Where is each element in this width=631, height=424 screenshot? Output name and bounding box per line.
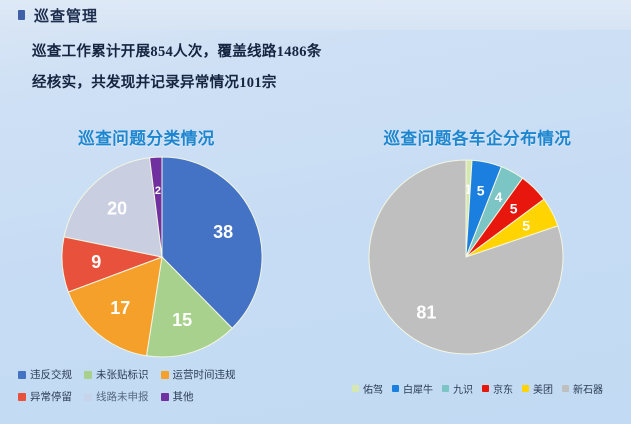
legend-label: 运营时间违规 bbox=[173, 367, 236, 382]
legend-item[interactable]: 其他 bbox=[161, 389, 194, 404]
legend-label: 九识 bbox=[453, 381, 473, 396]
summary-line-1: 巡查工作累计开展854人次，覆盖线路1486条 bbox=[32, 40, 322, 61]
legend-swatch-icon bbox=[392, 385, 399, 392]
chart-title-right: 巡查问题各车企分布情况 bbox=[324, 125, 631, 149]
legend-label: 京东 bbox=[493, 381, 513, 396]
legend-label: 新石器 bbox=[573, 381, 603, 396]
chart-panel-categories: 巡查问题分类情况 3815179202 bbox=[0, 125, 315, 364]
legend-item[interactable]: 新石器 bbox=[562, 381, 603, 396]
legend-item[interactable]: 异常停留 bbox=[18, 389, 72, 404]
legend-swatch-icon bbox=[161, 371, 169, 379]
legend-swatch-icon bbox=[18, 371, 26, 379]
legend-item[interactable]: 九识 bbox=[442, 381, 473, 396]
legend-swatch-icon bbox=[84, 371, 92, 379]
pie-slice-label: 5 bbox=[477, 183, 485, 199]
legend-item[interactable]: 美团 bbox=[522, 381, 553, 396]
pie-slice-label: 17 bbox=[110, 298, 130, 318]
legend-swatch-icon bbox=[18, 393, 26, 401]
legend-label: 佑驾 bbox=[363, 381, 383, 396]
legend-item[interactable]: 京东 bbox=[482, 381, 513, 396]
slide-root: 巡查管理 巡查工作累计开展854人次，覆盖线路1486条 经核实，共发现并记录异… bbox=[0, 0, 631, 424]
legend-swatch-icon bbox=[562, 385, 569, 392]
legend-swatch-icon bbox=[482, 385, 489, 392]
page-title: 巡查管理 bbox=[34, 5, 98, 26]
legend-label: 线路未申报 bbox=[96, 389, 149, 404]
pie-slice-label: 81 bbox=[416, 302, 436, 322]
chart-panel-companies: 巡查问题各车企分布情况 1545581 bbox=[316, 125, 631, 364]
legend-swatch-icon bbox=[84, 393, 92, 401]
legend-categories: 违反交规未张贴标识运营时间违规异常停留线路未申报其他 bbox=[18, 367, 308, 407]
legend-swatch-icon bbox=[522, 385, 529, 392]
legend-swatch-icon bbox=[352, 385, 359, 392]
legend-label: 美团 bbox=[533, 381, 553, 396]
page-header: 巡查管理 bbox=[0, 0, 631, 30]
pie-slice-label: 9 bbox=[91, 252, 101, 272]
legend-item[interactable]: 运营时间违规 bbox=[161, 367, 236, 382]
pie-slice-label: 15 bbox=[172, 310, 192, 330]
legend-swatch-icon bbox=[161, 393, 169, 401]
pie-chart-categories-svg: 3815179202 bbox=[0, 149, 315, 364]
pie-slice-label: 4 bbox=[495, 189, 503, 205]
pie-chart-categories: 3815179202 bbox=[0, 149, 315, 364]
pie-slice-label: 5 bbox=[522, 218, 530, 234]
pie-slice-label: 38 bbox=[213, 222, 233, 242]
summary-text: 巡查工作累计开展854人次，覆盖线路1486条 经核实，共发现并记录异常情况10… bbox=[32, 40, 322, 102]
legend-item[interactable]: 线路未申报 bbox=[84, 389, 149, 404]
legend-swatch-icon bbox=[442, 385, 449, 392]
pie-slice-label: 5 bbox=[510, 201, 518, 217]
legend-label: 其他 bbox=[173, 389, 194, 404]
legend-item[interactable]: 违反交规 bbox=[18, 367, 72, 382]
legend-label: 违反交规 bbox=[30, 367, 72, 382]
pie-slice-label: 2 bbox=[155, 185, 161, 197]
summary-line-2: 经核实，共发现并记录异常情况101宗 bbox=[32, 71, 322, 92]
legend-item[interactable]: 佑驾 bbox=[352, 381, 383, 396]
legend-companies: 佑驾白犀牛九识京东美团新石器 bbox=[352, 381, 624, 399]
legend-item[interactable]: 白犀牛 bbox=[392, 381, 433, 396]
chart-title-left: 巡查问题分类情况 bbox=[0, 125, 315, 149]
legend-label: 异常停留 bbox=[30, 389, 72, 404]
legend-label: 未张贴标识 bbox=[96, 367, 149, 382]
square-bullet-icon bbox=[18, 10, 25, 20]
pie-slice-label: 20 bbox=[107, 199, 127, 219]
legend-label: 白犀牛 bbox=[403, 381, 433, 396]
pie-chart-companies-svg: 1545581 bbox=[316, 149, 631, 364]
legend-item[interactable]: 未张贴标识 bbox=[84, 367, 149, 382]
pie-chart-companies: 1545581 bbox=[316, 149, 631, 364]
